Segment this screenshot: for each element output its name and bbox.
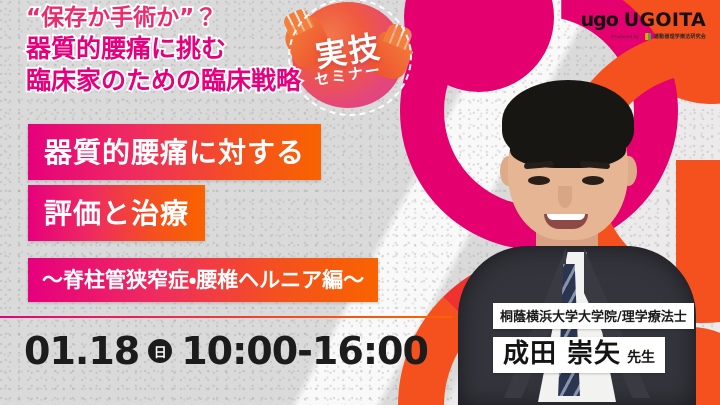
- speaker-name-suffix: 先生: [627, 351, 655, 367]
- seminar-type-badge: 実技 セミナー: [292, 2, 404, 108]
- seminar-banner: 実技 セミナー ugo UGOITA Produced by 運動器理学療法研究…: [0, 0, 720, 405]
- schedule-row: 01.18 日 10:00-16:00: [24, 332, 428, 370]
- photo-eye-left: [528, 176, 550, 185]
- headline-line-3: 臨床家のための臨床戦略: [26, 66, 301, 96]
- photo-nose: [558, 186, 572, 208]
- speaker-name-box: 成田 崇矢 先生: [493, 337, 665, 373]
- speaker-affiliation: 桐蔭横浜大学大学院/理学療法士: [493, 303, 694, 329]
- photo-hair: [502, 80, 634, 164]
- badge-dashed-outline: [288, 0, 412, 116]
- day-of-week-badge: 日: [148, 339, 172, 363]
- producer-mark-icon: [642, 33, 651, 40]
- headline-line-1: “保存か手術か”？: [26, 5, 301, 33]
- gradient-divider: [0, 316, 452, 318]
- photo-eye-right: [582, 176, 604, 185]
- logo-row: ugo UGOITA: [581, 9, 706, 31]
- logo-brand-name: UGOITA: [624, 9, 706, 31]
- brand-logo: ugo UGOITA Produced by 運動器理学療法研究会: [581, 9, 706, 40]
- title-bar-primary: 器質的腰痛に対する: [28, 124, 321, 180]
- event-date: 01.18: [24, 332, 139, 370]
- title-bar-secondary: 評価と治療: [28, 185, 205, 241]
- headline-block: “保存か手術か”？ 器質的腰痛に挑む 臨床家のための臨床戦略: [26, 5, 301, 96]
- logo-mark-text: ugo: [581, 9, 618, 31]
- title-bar-subtitle: 〜脊柱管狭窄症・腰椎ヘルニア編〜: [28, 258, 378, 302]
- speaker-name: 成田 崇矢: [503, 341, 621, 367]
- event-time: 10:00-16:00: [181, 332, 428, 370]
- producer-name: 運動器理学療法研究会: [654, 33, 706, 40]
- headline-line-2: 器質的腰痛に挑む: [26, 34, 301, 64]
- produced-by-label: Produced by: [612, 34, 639, 39]
- logo-produced-by: Produced by 運動器理学療法研究会: [581, 33, 706, 40]
